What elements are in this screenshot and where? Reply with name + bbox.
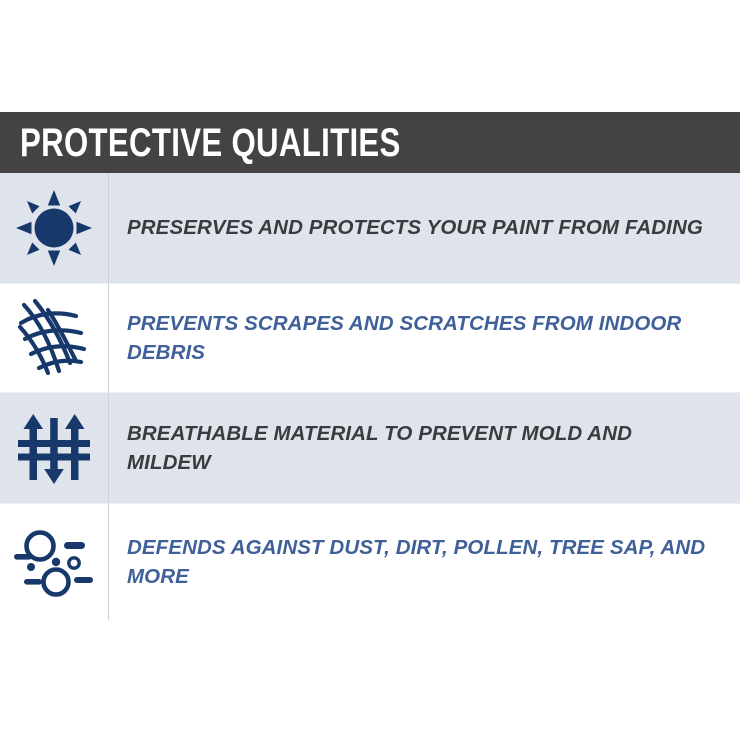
page-title: PROTECTIVE QUALITIES [20, 123, 401, 163]
quality-text: BREATHABLE MATERIAL TO PREVENT MOLD AND … [127, 419, 720, 477]
quality-text: PREVENTS SCRAPES AND SCRATCHES FROM INDO… [127, 309, 720, 367]
sun-icon [16, 190, 92, 266]
quality-text: DEFENDS AGAINST DUST, DIRT, POLLEN, TREE… [127, 533, 720, 591]
row-icon-cell [0, 504, 109, 620]
dust-particles-icon [12, 525, 96, 599]
table-row: PRESERVES AND PROTECTS YOUR PAINT FROM F… [0, 173, 740, 283]
row-text-cell: PRESERVES AND PROTECTS YOUR PAINT FROM F… [109, 173, 740, 283]
row-text-cell: BREATHABLE MATERIAL TO PREVENT MOLD AND … [109, 393, 740, 503]
infographic-sheet: PROTECTIVE QUALITIES [0, 0, 750, 750]
row-text-cell: DEFENDS AGAINST DUST, DIRT, POLLEN, TREE… [109, 504, 740, 620]
row-icon-cell [0, 284, 109, 392]
header-bar: PROTECTIVE QUALITIES [0, 112, 740, 173]
mesh-net-icon [15, 297, 93, 379]
row-icon-cell [0, 173, 109, 283]
quality-text: PRESERVES AND PROTECTS YOUR PAINT FROM F… [127, 213, 703, 242]
table-row: PREVENTS SCRAPES AND SCRATCHES FROM INDO… [0, 283, 740, 392]
table-row: BREATHABLE MATERIAL TO PREVENT MOLD AND … [0, 392, 740, 503]
protective-qualities-table: PRESERVES AND PROTECTS YOUR PAINT FROM F… [0, 173, 740, 620]
table-row: DEFENDS AGAINST DUST, DIRT, POLLEN, TREE… [0, 503, 740, 620]
breathable-airflow-icon [14, 408, 94, 488]
row-icon-cell [0, 393, 109, 503]
row-text-cell: PREVENTS SCRAPES AND SCRATCHES FROM INDO… [109, 284, 740, 392]
